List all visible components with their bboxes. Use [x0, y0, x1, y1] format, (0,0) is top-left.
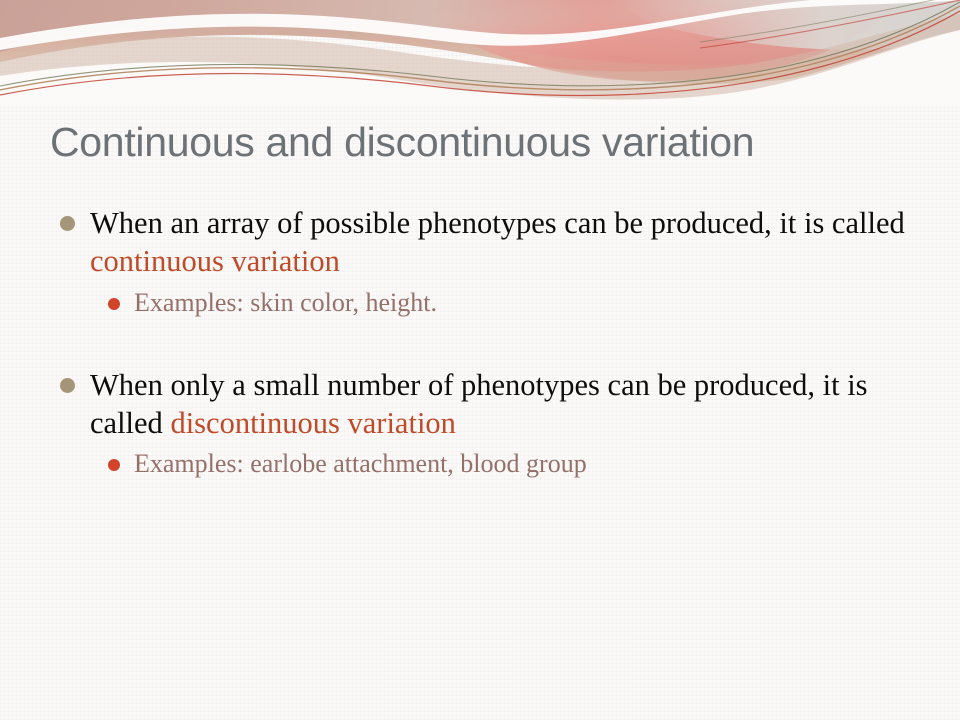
bullet-spacer: [52, 320, 924, 366]
bullet-2-accent-term: discontinuous variation: [170, 406, 455, 440]
slide-title: Continuous and discontinuous variation: [50, 120, 930, 166]
sub-bullet-marker-icon: [108, 459, 120, 471]
bullet-point-2: When only a small number of phenotypes c…: [52, 366, 924, 443]
slide-body: When an array of possible phenotypes can…: [52, 204, 924, 481]
bullet-point-1: When an array of possible phenotypes can…: [52, 204, 924, 281]
slide-canvas: Continuous and discontinuous variation W…: [0, 0, 960, 720]
sub-bullet-example-1: Examples: skin color, height.: [52, 287, 924, 320]
bullet-1-accent-term: continuous variation: [90, 244, 340, 278]
bullet-marker-icon: [60, 378, 75, 393]
bullet-marker-icon: [60, 216, 75, 231]
sub-bullet-marker-icon: [108, 298, 120, 310]
sub-bullet-1-text: Examples: skin color, height.: [134, 288, 437, 317]
sub-bullet-2-text: Examples: earlobe attachment, blood grou…: [134, 449, 587, 478]
sub-bullet-example-2: Examples: earlobe attachment, blood grou…: [52, 448, 924, 481]
bullet-1-text: When an array of possible phenotypes can…: [90, 206, 905, 240]
header-decoration: [0, 0, 960, 104]
